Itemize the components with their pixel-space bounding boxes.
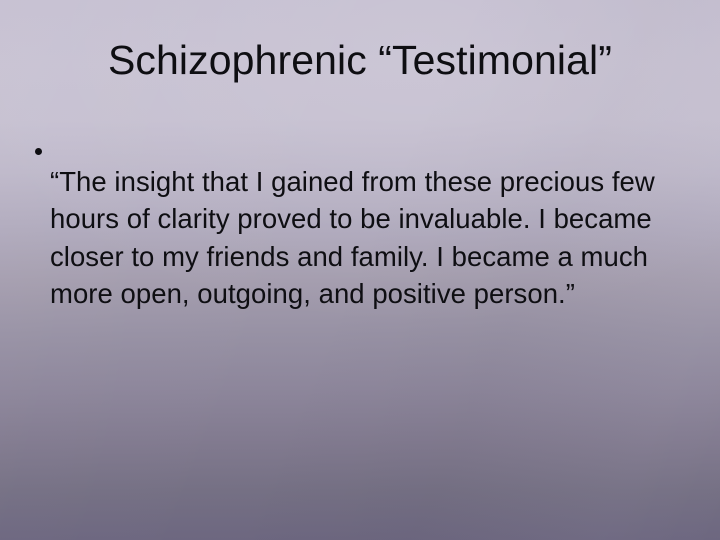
bullet-list-item: “The insight that I gained from these pr… <box>28 135 676 340</box>
bullet-dot-icon <box>35 148 42 155</box>
presentation-slide: Schizophrenic “Testimonial” “The insight… <box>0 0 720 540</box>
slide-title: Schizophrenic “Testimonial” <box>54 36 666 84</box>
slide-title-placeholder: Schizophrenic “Testimonial” <box>54 36 666 84</box>
bullet-item-text: “The insight that I gained from these pr… <box>50 163 676 313</box>
bullet-marker <box>28 135 50 155</box>
slide-body-placeholder: “The insight that I gained from these pr… <box>28 135 676 340</box>
